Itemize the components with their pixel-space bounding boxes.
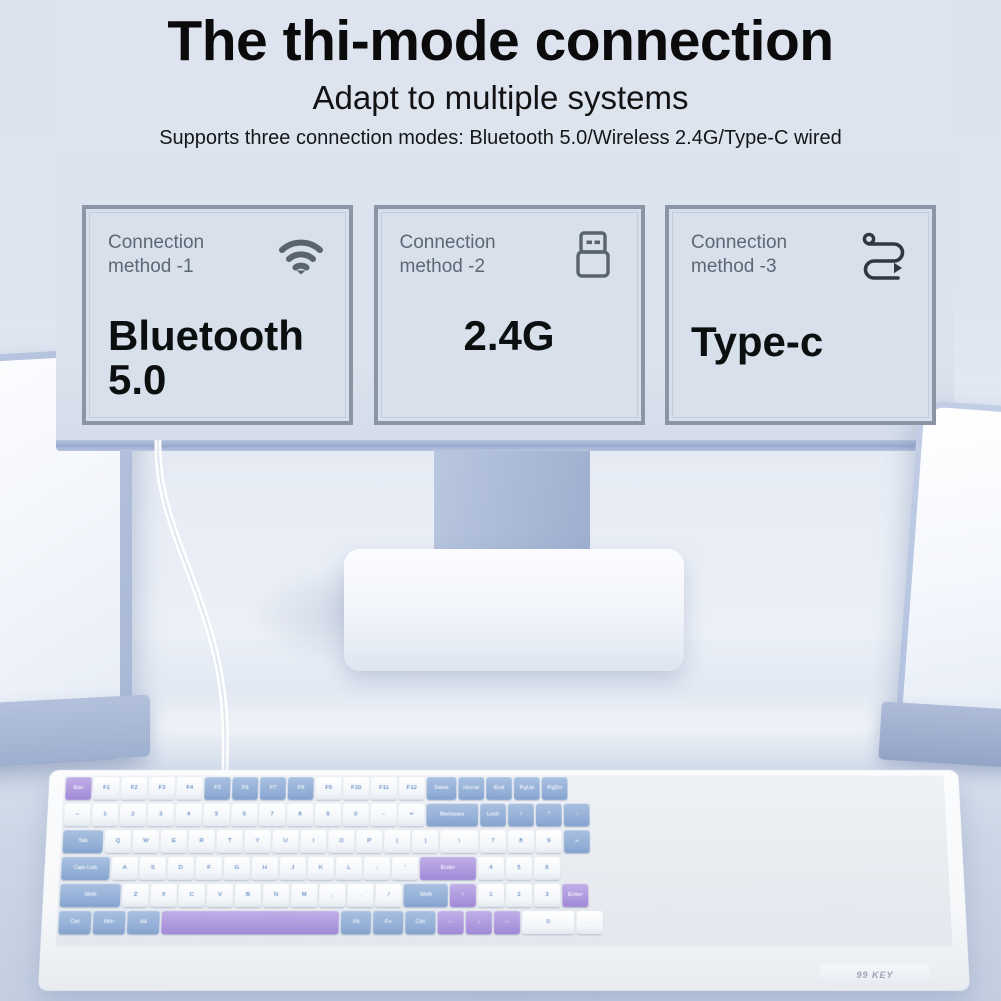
card-value-3: Type-c [691, 320, 918, 365]
usb-cable [150, 440, 290, 800]
key-5[interactable]: 5 [203, 804, 230, 827]
key-tab[interactable]: Tab [62, 830, 103, 853]
key-6[interactable]: 6 [534, 857, 560, 880]
key--[interactable]: + [564, 830, 590, 853]
key--[interactable]: , [319, 884, 346, 907]
key-f10[interactable]: F10 [343, 777, 369, 799]
key-shift[interactable]: Shift [403, 884, 447, 907]
key-k[interactable]: K [308, 857, 335, 880]
key-caps-lock[interactable]: Caps Lock [61, 857, 110, 880]
key-f[interactable]: F [195, 857, 222, 880]
key-enter[interactable]: Enter [420, 857, 476, 880]
key-4[interactable]: 4 [478, 857, 504, 880]
key-4[interactable]: 4 [175, 804, 202, 827]
key-pgup[interactable]: PgUp [514, 777, 540, 799]
card-label-3: Connection method -3 [691, 231, 787, 279]
key--[interactable]: ' [392, 857, 418, 880]
key-z[interactable]: Z [122, 884, 149, 907]
key-fn[interactable]: Fn [373, 911, 404, 934]
page-title: The thi-mode connection [0, 12, 1001, 72]
connection-card-bluetooth: Connection method -1 Bluetooth 5.0 [82, 205, 353, 425]
key-delete[interactable]: Delete [427, 777, 457, 799]
usb-dongle-icon [567, 229, 619, 281]
key--[interactable]: * [536, 804, 562, 827]
mechanical-keyboard: EscF1F2F3F4F5F6F7F8F9F10F11F12DeleteHome… [44, 768, 964, 990]
key-c[interactable]: C [178, 884, 205, 907]
key-0[interactable]: 0 [343, 804, 369, 827]
key-backspace[interactable]: Backspace [426, 804, 478, 827]
key-alt[interactable]: Alt [341, 911, 372, 934]
key-6[interactable]: 6 [231, 804, 258, 827]
phone-stand [878, 701, 1001, 768]
product-marketing-image: The thi-mode connection Adapt to multipl… [0, 0, 1001, 1001]
key-f9[interactable]: F9 [315, 777, 341, 799]
key-3[interactable]: 3 [534, 884, 560, 907]
key--[interactable]: - [371, 804, 397, 827]
connection-card-typec: Connection method -3 Type-c [665, 205, 936, 425]
card-label-1: Connection method -1 [108, 231, 204, 279]
key-x[interactable]: X [150, 884, 177, 907]
card-label-2: Connection method -2 [400, 231, 496, 279]
key-v[interactable]: V [206, 884, 233, 907]
product-badge: 99 KEY [820, 965, 930, 984]
key-f1[interactable]: F1 [93, 777, 120, 799]
key-enter[interactable]: Enter [562, 884, 588, 907]
header-block: The thi-mode connection Adapt to multipl… [0, 0, 1001, 149]
key-9[interactable]: 9 [315, 804, 341, 827]
key-r[interactable]: R [188, 830, 215, 853]
key-esc[interactable]: Esc [65, 777, 92, 799]
key-2[interactable]: 2 [506, 884, 532, 907]
key-q[interactable]: Q [104, 830, 131, 853]
page-subtitle: Adapt to multiple systems [0, 80, 1001, 116]
monitor-stand-base [344, 549, 684, 671]
key-ctrl[interactable]: Ctrl [58, 911, 91, 934]
key--[interactable]: - [564, 804, 590, 827]
key--[interactable]: ↓ [466, 911, 492, 934]
key-lock[interactable]: Lock [480, 804, 506, 827]
key-f6[interactable]: F6 [232, 777, 258, 799]
card-value-1: Bluetooth 5.0 [108, 314, 335, 403]
key--[interactable]: . [576, 911, 602, 934]
key--[interactable]: ] [412, 830, 438, 853]
key--[interactable]: → [494, 911, 520, 934]
key-f2[interactable]: F2 [121, 777, 148, 799]
key--[interactable]: = [398, 804, 424, 827]
key-i[interactable]: I [300, 830, 326, 853]
key--[interactable]: . [347, 884, 373, 907]
key-f7[interactable]: F7 [260, 777, 286, 799]
key-pgdn[interactable]: PgDn [542, 777, 568, 799]
card-value-2: 2.4G [382, 314, 637, 359]
key-7[interactable]: 7 [259, 804, 285, 827]
key-f5[interactable]: F5 [204, 777, 231, 799]
key-2[interactable]: 2 [120, 804, 147, 827]
key-win[interactable]: Win [92, 911, 125, 934]
key-o[interactable]: O [328, 830, 354, 853]
key-b[interactable]: B [235, 884, 262, 907]
key--[interactable]: ; [364, 857, 390, 880]
key-9[interactable]: 9 [536, 830, 562, 853]
key-5[interactable]: 5 [506, 857, 532, 880]
key-n[interactable]: N [263, 884, 290, 907]
key-3[interactable]: 3 [147, 804, 174, 827]
page-description: Supports three connection modes: Bluetoo… [0, 127, 1001, 149]
key-home[interactable]: Home [458, 777, 484, 799]
key--[interactable]: \ [440, 830, 478, 853]
key-f11[interactable]: F11 [371, 777, 397, 799]
key-alt[interactable]: Alt [127, 911, 160, 934]
wifi-icon [275, 229, 327, 281]
key-h[interactable]: H [251, 857, 278, 880]
key-1[interactable]: 1 [92, 804, 119, 827]
key-8[interactable]: 8 [508, 830, 534, 853]
key-m[interactable]: M [291, 884, 318, 907]
key--[interactable]: [ [384, 830, 410, 853]
key-p[interactable]: P [356, 830, 382, 853]
key-s[interactable]: S [139, 857, 166, 880]
key-e[interactable]: E [160, 830, 187, 853]
key-7[interactable]: 7 [480, 830, 506, 853]
key-shift[interactable]: Shift [60, 884, 121, 907]
key-w[interactable]: W [132, 830, 159, 853]
key-f3[interactable]: F3 [149, 777, 176, 799]
key-space[interactable] [161, 911, 339, 934]
key-y[interactable]: Y [244, 830, 271, 853]
key-1[interactable]: 1 [478, 884, 504, 907]
key-f12[interactable]: F12 [399, 777, 425, 799]
key-8[interactable]: 8 [287, 804, 313, 827]
key--[interactable]: ↑ [450, 884, 476, 907]
key-u[interactable]: U [272, 830, 299, 853]
key-d[interactable]: D [167, 857, 194, 880]
key-0[interactable]: 0 [522, 911, 574, 934]
key-a[interactable]: A [111, 857, 138, 880]
key-f8[interactable]: F8 [288, 777, 314, 799]
key-t[interactable]: T [216, 830, 243, 853]
key-j[interactable]: J [279, 857, 306, 880]
connection-card-24g: Connection method -2 2.4G [374, 205, 645, 425]
right-phone-screen [900, 406, 1001, 754]
left-device-base [0, 694, 150, 767]
key--[interactable]: ~ [64, 804, 91, 827]
key-end[interactable]: End [486, 777, 512, 799]
key-ctrl[interactable]: Ctrl [405, 911, 435, 934]
connection-methods-group: Connection method -1 Bluetooth 5.0 [82, 205, 936, 425]
key-f4[interactable]: F4 [176, 777, 203, 799]
cable-arrow-icon [858, 229, 910, 281]
keyboard-keys-plate: EscF1F2F3F4F5F6F7F8F9F10F11F12DeleteHome… [56, 775, 953, 946]
key-g[interactable]: G [223, 857, 250, 880]
key--[interactable]: / [375, 884, 401, 907]
key--[interactable]: / [508, 804, 534, 827]
key--[interactable]: ← [437, 911, 463, 934]
key-l[interactable]: L [336, 857, 362, 880]
